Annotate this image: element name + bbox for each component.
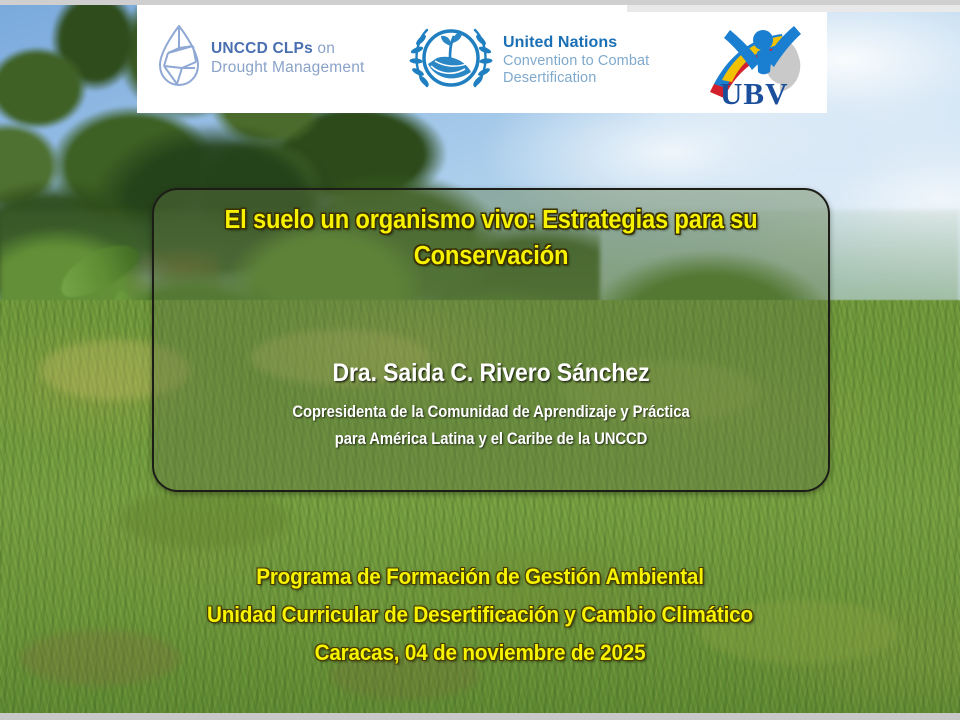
footer-line2: Unidad Curricular de Desertificación y C… [29, 596, 931, 634]
logo-unccd-clps: UNCCD CLPs on Drought Management [155, 22, 365, 95]
clp-line2: Drought Management [211, 59, 365, 77]
footer-block: Programa de Formación de Gestión Ambient… [0, 558, 960, 672]
author-role-line1: Copresidenta de la Comunidad de Aprendiz… [206, 399, 777, 426]
author-block: Dra. Saida C. Rivero Sánchez Copresident… [174, 358, 808, 452]
author-name: Dra. Saida C. Rivero Sánchez [199, 358, 782, 388]
clp-line1: UNCCD CLPs on [211, 40, 365, 58]
footer-line1: Programa de Formación de Gestión Ambient… [29, 558, 931, 596]
clp-wordmark: UNCCD CLPs on Drought Management [211, 40, 365, 77]
clp-line1-bold: UNCCD CLPs [211, 40, 313, 57]
un-line3: Desertification [503, 70, 649, 88]
ubv-wordmark: UBV [720, 76, 788, 112]
logo-ubv: UBV [702, 10, 822, 115]
footer-line3: Caracas, 04 de noviembre de 2025 [29, 634, 931, 672]
un-line2: Convention to Combat [503, 53, 649, 71]
un-laurel-wreath-icon [409, 16, 493, 105]
title-panel: El suelo un organismo vivo: Estrategias … [152, 188, 830, 492]
page-title: El suelo un organismo vivo: Estrategias … [205, 202, 776, 274]
author-role-line2: para América Latina y el Caribe de la UN… [206, 426, 777, 453]
un-line1: United Nations [503, 33, 649, 53]
water-droplet-icon [155, 22, 203, 95]
author-role: Copresidenta de la Comunidad de Aprendiz… [206, 399, 777, 452]
un-wordmark: United Nations Convention to Combat Dese… [503, 33, 649, 88]
presentation-slide: UNCCD CLPs on Drought Management [0, 0, 960, 720]
logo-banner: UNCCD CLPs on Drought Management [137, 4, 827, 113]
bottom-frame-band [0, 713, 960, 720]
top-frame-band [0, 0, 960, 5]
grass-blotch [120, 490, 290, 548]
logo-unccd-united-nations: United Nations Convention to Combat Dese… [409, 16, 649, 105]
clp-line1-light: on [313, 40, 335, 57]
